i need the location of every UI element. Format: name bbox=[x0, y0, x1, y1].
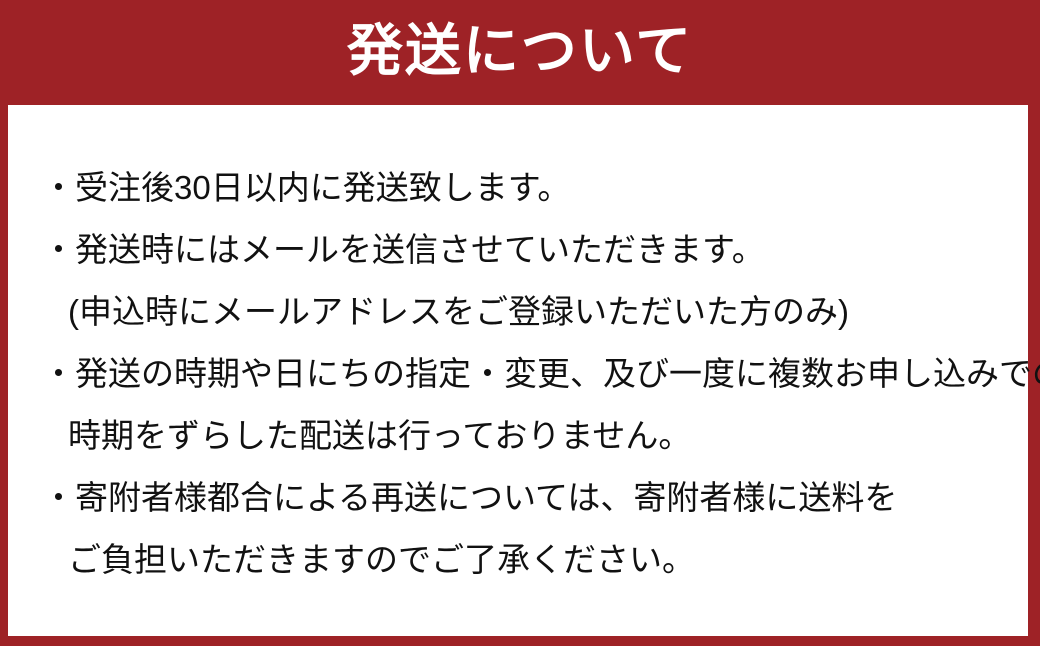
notice-line: ・受注後30日以内に発送致します。 bbox=[42, 157, 1012, 219]
page-title: 発送について bbox=[0, 0, 1040, 105]
notice-line-list: ・受注後30日以内に発送致します。 ・発送時にはメールを送信させていただきます。… bbox=[42, 157, 1012, 591]
notice-line: ご負担いただきますのでご了承ください。 bbox=[42, 529, 1012, 591]
notice-line: ・寄附者様都合による再送については、寄附者様に送料を bbox=[42, 467, 1012, 529]
notice-line: 時期をずらした配送は行っておりません。 bbox=[42, 405, 1012, 467]
frame-border-left bbox=[0, 105, 8, 636]
notice-content: ・受注後30日以内に発送致します。 ・発送時にはメールを送信させていただきます。… bbox=[8, 105, 1028, 636]
notice-line: ・発送の時期や日にちの指定・変更、及び一度に複数お申し込みでの bbox=[42, 343, 1012, 405]
shipping-notice-banner: 発送について ・受注後30日以内に発送致します。 ・発送時にはメールを送信させて… bbox=[0, 0, 1040, 646]
notice-line: ・発送時にはメールを送信させていただきます。 bbox=[42, 219, 1012, 281]
frame-border-bottom bbox=[0, 636, 1040, 646]
notice-line: (申込時にメールアドレスをご登録いただいた方のみ) bbox=[42, 281, 1012, 343]
